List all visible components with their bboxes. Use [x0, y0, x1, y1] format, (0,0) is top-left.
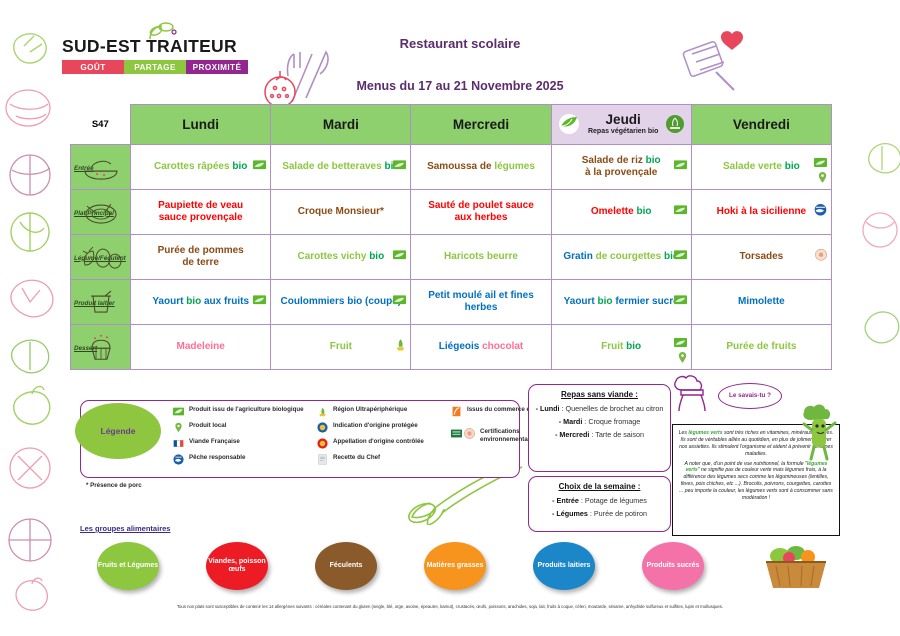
meatless-dish: Tarte de saison [595, 430, 644, 439]
row-label-plat-principal: Plat Principal [71, 190, 131, 235]
ultraperipheral-region-icon [317, 406, 328, 417]
page-title-block: Restaurant scolaire Menus du 17 au 21 No… [330, 36, 590, 93]
bio-badge [674, 250, 687, 264]
french-meat-icon [173, 438, 184, 449]
cupcake-icon [83, 334, 119, 362]
week-number: S47 [71, 105, 131, 145]
menu-table: S47 Lundi Mardi Mercredi Jeudi Repas vég… [70, 104, 832, 370]
food-groups-title: Les groupes alimentaires [80, 524, 170, 533]
dish-cell: Carottes râpées bio [131, 145, 271, 190]
brand-logo: SUD-EST TRAITEUR GOÛT PARTAGE PROXIMITÉ [62, 36, 302, 74]
bio-label-icon [173, 406, 184, 417]
bio-badge [674, 205, 687, 219]
fish-badge [814, 204, 827, 221]
aoc-icon [317, 438, 328, 449]
legend-item-bio: Produit issu de l'agriculture biologique [173, 406, 305, 417]
legend-item-recette-chef: Recette du Chef [317, 454, 439, 465]
legend-label: Pêche responsable [189, 454, 245, 462]
dish-cell: Salade de riz bioà la provençale [551, 145, 691, 190]
location-pin-icon [818, 172, 827, 183]
week-choice-dish: Purée de potiron [594, 509, 647, 518]
local-badge [818, 172, 827, 188]
meatless-meals-box: Repas sans viande : - Lundi : Quenelles … [528, 384, 671, 472]
bio-label-icon [674, 205, 687, 214]
legend-item-peche-responsable: Pêche responsable [173, 454, 305, 465]
day-header-lundi: Lundi [131, 105, 271, 145]
legend-box: Légende Produit issu de l'agriculture bi… [80, 400, 520, 478]
meatless-day: - Mercredi [555, 430, 589, 439]
day-header-mercredi: Mercredi [411, 105, 551, 145]
location-pin-icon [173, 422, 184, 433]
did-you-know-paragraph-2: A noter que, d'un point de vue nutrition… [678, 461, 834, 502]
soup-bowl-icon [81, 155, 121, 181]
dish-cell: Madeleine [131, 325, 271, 370]
meatless-item: - Lundi : Quenelles de brochet au citron [535, 404, 664, 413]
week-choice-course: - Entrée [552, 496, 579, 505]
legend-label: Viande Française [189, 438, 240, 446]
week-choice-course: - Légumes [552, 509, 588, 518]
dish-cell: Fruit [271, 325, 411, 370]
day-sublabel-jeudi: Repas végétarien bio [588, 128, 658, 135]
yogurt-pot-icon [83, 290, 119, 316]
legend-column-2: Région Ultrapériphérique Indication d'or… [317, 406, 439, 465]
bio-label-icon [674, 295, 687, 304]
bio-badge [253, 160, 266, 174]
dish-cell: Omelette bio [551, 190, 691, 235]
bio-badge [393, 250, 406, 264]
table-row-produit-laitier: Produit laitier Yaourt bio aux fruits Co… [71, 280, 832, 325]
bio-badge [674, 338, 687, 352]
environmental-certification-icon [464, 428, 475, 439]
legend-label: Produit local [189, 422, 226, 430]
food-groups-row: Fruits et Légumes Viandes, poisson œufs … [97, 542, 704, 590]
meatless-item: - Mardi : Croque fromage [535, 417, 664, 426]
legend-label: Recette du Chef [333, 454, 380, 462]
food-group-produits-sucres: Produits sucrés [642, 542, 704, 590]
grill-heart-icon [680, 28, 758, 98]
food-group-feculents: Féculents [315, 542, 377, 590]
igp-icon [317, 422, 328, 433]
bio-badge [674, 295, 687, 309]
bio-label-icon [393, 250, 406, 259]
dish-cell: Liégeois chocolat [411, 325, 551, 370]
legend-item-viande-francaise: Viande Française [173, 438, 305, 449]
rup-badge [395, 339, 406, 356]
bio-badge [393, 160, 406, 174]
table-row-plat-principal: Plat Principal Paupiette de veausauce pr… [71, 190, 832, 235]
dish-cell: Yaourt bio fermier sucré [551, 280, 691, 325]
dish-cell: Salade de betteraves bio [271, 145, 411, 190]
fairtrade-icon [451, 406, 462, 417]
week-choice-dish: Potage de légumes [585, 496, 647, 505]
legend-columns: Produit issu de l'agriculture biologique… [173, 406, 569, 465]
week-choice-box: Choix de la semaine : - Entrée : Potage … [528, 476, 671, 532]
dish-cell: Petit moulé ail et finesherbes [411, 280, 551, 325]
did-you-know-bubble: Le savais-tu ? [718, 383, 782, 409]
dish-cell: Carottes vichy bio [271, 235, 411, 280]
table-row-entree: Entrée Carottes râpées bio Salade de bet… [71, 145, 832, 190]
ultraperipheral-region-icon [395, 339, 406, 351]
sprout-icon [146, 22, 180, 42]
bio-label-icon [253, 295, 266, 304]
bio-badge [814, 158, 827, 172]
legend-label: Produit issu de l'agriculture biologique [189, 406, 304, 414]
chef-recipe-icon [317, 454, 328, 465]
vegetables-icon [79, 245, 123, 271]
bio-eu-leaf-icon [558, 113, 580, 135]
brand-tag-gout: GOÛT [62, 60, 124, 74]
page-subtitle: Menus du 17 au 21 Novembre 2025 [330, 79, 590, 93]
right-decorative-strip [838, 0, 900, 636]
meatless-item: - Mercredi : Tarte de saison [535, 430, 664, 439]
bio-label-icon [814, 158, 827, 167]
row-label-dessert: Dessert [71, 325, 131, 370]
day-label-jeudi: Jeudi [606, 112, 641, 127]
chef-badge [815, 249, 827, 266]
table-row-legume-feculent: Légume/Féculent Purée de pommesde terre … [71, 235, 832, 280]
brand-name: SUD-EST TRAITEUR [62, 36, 302, 57]
row-label-legume-feculent: Légume/Féculent [71, 235, 131, 280]
day-header-mardi: Mardi [271, 105, 411, 145]
week-choice-title: Choix de la semaine : [535, 482, 664, 491]
legend-item-local: Produit local [173, 422, 305, 433]
local-badge [678, 352, 687, 368]
legend-item-aoc: Appellation d'origine contrôlée [317, 438, 439, 449]
day-header-jeudi: Jeudi Repas végétarien bio [551, 105, 691, 145]
responsible-fishing-icon [173, 454, 184, 465]
dish-cell: Haricots beurre [411, 235, 551, 280]
bio-label-icon [393, 160, 406, 169]
dish-cell: Mimolette [691, 280, 831, 325]
meatless-day: - Lundi [536, 404, 560, 413]
dish-cell: Purée de pommesde terre [131, 235, 271, 280]
bio-label-icon [393, 295, 406, 304]
legend-label: Appellation d'origine contrôlée [333, 438, 424, 446]
brand-tagline: GOÛT PARTAGE PROXIMITÉ [62, 60, 248, 74]
food-group-matieres-grasses: Matières grasses [424, 542, 486, 590]
meatless-title: Repas sans viande : [535, 390, 664, 399]
chef-icon [668, 374, 724, 414]
dish-cell: Croque Monsieur* [271, 190, 411, 235]
page-title: Restaurant scolaire [330, 36, 590, 51]
legend-item-igp: Indication d'origine protégée [317, 422, 439, 433]
dish-cell: Salade verte bio [691, 145, 831, 190]
dish-cell: Fruit bio [551, 325, 691, 370]
bio-label-icon [253, 160, 266, 169]
bio-badge [253, 295, 266, 309]
dish-cell: Gratin de courgettes bio [551, 235, 691, 280]
hve-certification-icon [451, 428, 462, 439]
food-group-fruits-legumes: Fruits et Légumes [97, 542, 159, 590]
bio-badge [674, 160, 687, 174]
meatless-day: - Mardi [559, 417, 583, 426]
week-choice-item: - Entrée : Potage de légumes [535, 496, 664, 505]
table-row-dessert: Dessert Madeleine Fruit Liégeois chocola… [71, 325, 832, 370]
dish-cell: Coulommiers bio (coupe) [271, 280, 411, 325]
menu-table-body: Entrée Carottes râpées bio Salade de bet… [71, 145, 832, 370]
bio-label-icon [674, 250, 687, 259]
legend-column-1: Produit issu de l'agriculture biologique… [173, 406, 305, 465]
meatless-dish: Croque fromage [588, 417, 640, 426]
allergen-note: Tous nos plats sont susceptibles de cont… [70, 604, 830, 610]
dish-cell: Sauté de poulet sauceaux herbes [411, 190, 551, 235]
responsible-fishing-icon [814, 204, 827, 216]
location-pin-icon [678, 352, 687, 363]
did-you-know-bubble-text: Le savais-tu ? [729, 393, 771, 400]
legend-label: Indication d'origine protégée [333, 422, 418, 430]
legend-label: Région Ultrapériphérique [333, 406, 407, 414]
chef-recipe-icon [815, 249, 827, 261]
food-group-viandes-poisson-oeufs: Viandes, poisson œufs [206, 542, 268, 590]
row-label-entree: Entrée [71, 145, 131, 190]
dish-cell: Hoki à la sicilienne [691, 190, 831, 235]
bio-label-icon [674, 160, 687, 169]
left-decorative-strip [0, 0, 62, 636]
dish-cell: Torsades [691, 235, 831, 280]
plate-meal-icon [81, 200, 121, 226]
dish-cell: Samoussa de légumes [411, 145, 551, 190]
table-header-row: S47 Lundi Mardi Mercredi Jeudi Repas vég… [71, 105, 832, 145]
bio-badge [393, 295, 406, 309]
dish-cell: Purée de fruits [691, 325, 831, 370]
meatless-dish: Quenelles de brochet au citron [566, 404, 664, 413]
bio-label-icon [674, 338, 687, 347]
broccoli-mascot-icon [800, 404, 842, 464]
vegetarian-badge-icon [666, 115, 684, 133]
legend-bubble: Légende [75, 403, 161, 459]
legend-item-region-ultraperipherique: Région Ultrapériphérique [317, 406, 439, 417]
food-group-produits-laitiers: Produits laitiers [533, 542, 595, 590]
week-choice-item: - Légumes : Purée de potiron [535, 509, 664, 518]
dish-cell: Yaourt bio aux fruits [131, 280, 271, 325]
vegetable-basket-icon [756, 542, 836, 592]
dish-cell: Paupiette de veausauce provençale [131, 190, 271, 235]
brand-tag-proximite: PROXIMITÉ [186, 60, 248, 74]
row-label-produit-laitier: Produit laitier [71, 280, 131, 325]
pork-footnote: * Présence de porc [86, 482, 142, 489]
brand-tag-partage: PARTAGE [124, 60, 186, 74]
day-header-vendredi: Vendredi [691, 105, 831, 145]
